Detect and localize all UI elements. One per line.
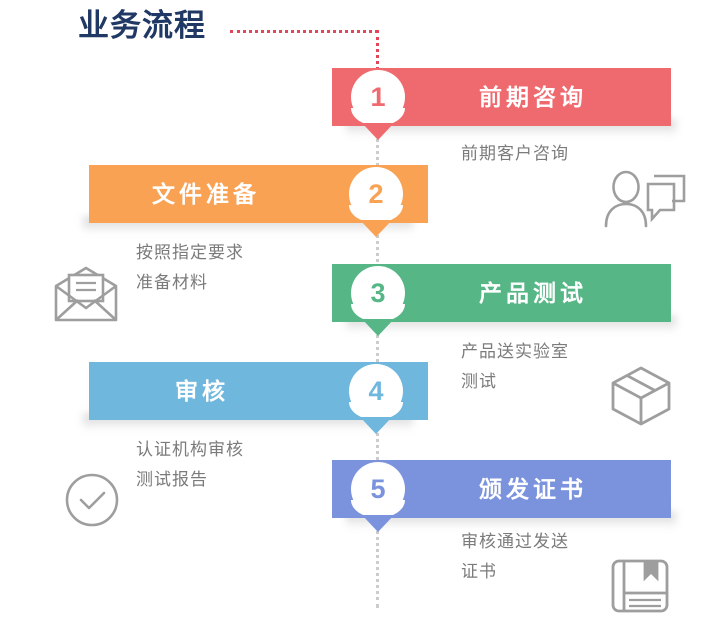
person-chat-icon <box>602 168 688 230</box>
step-1-label: 前期咨询 <box>479 68 587 126</box>
step-5-description: 审核通过发送 证书 <box>461 527 569 587</box>
step-3-badge[interactable]: 3 <box>351 266 405 320</box>
step-4-number: 4 <box>349 364 403 418</box>
step-4-label: 审核 <box>175 362 229 420</box>
page-title: 业务流程 <box>78 6 206 46</box>
step-3-number: 3 <box>351 266 405 320</box>
step-5-badge[interactable]: 5 <box>351 462 405 516</box>
step-2-pointer <box>360 220 392 237</box>
step-1-badge[interactable]: 1 <box>351 70 405 124</box>
step-2-badge[interactable]: 2 <box>349 167 403 221</box>
step-1-number: 1 <box>351 70 405 124</box>
step-5-pointer <box>362 515 394 532</box>
check-circle-icon <box>64 472 120 528</box>
step-4-description: 认证机构审核 测试报告 <box>136 435 244 495</box>
connector-elbow-vertical <box>376 30 379 70</box>
step-3-label: 产品测试 <box>479 264 587 322</box>
step-3-pointer <box>362 319 394 336</box>
connector-elbow-horizontal <box>230 30 378 33</box>
step-4-badge[interactable]: 4 <box>349 364 403 418</box>
step-1-description: 前期客户咨询 <box>461 139 569 169</box>
step-2-number: 2 <box>349 167 403 221</box>
step-2-description: 按照指定要求 准备材料 <box>136 238 244 298</box>
step-3-description: 产品送实验室 测试 <box>461 337 569 397</box>
step-2-label: 文件准备 <box>152 165 260 223</box>
connector-step5-end <box>376 524 379 608</box>
step-4-pointer <box>360 417 392 434</box>
package-box-icon <box>609 364 673 428</box>
certificate-book-icon <box>609 558 671 614</box>
step-5-label: 颁发证书 <box>479 460 587 518</box>
envelope-icon <box>53 265 119 325</box>
step-1-pointer <box>362 123 394 140</box>
step-5-number: 5 <box>351 462 405 516</box>
